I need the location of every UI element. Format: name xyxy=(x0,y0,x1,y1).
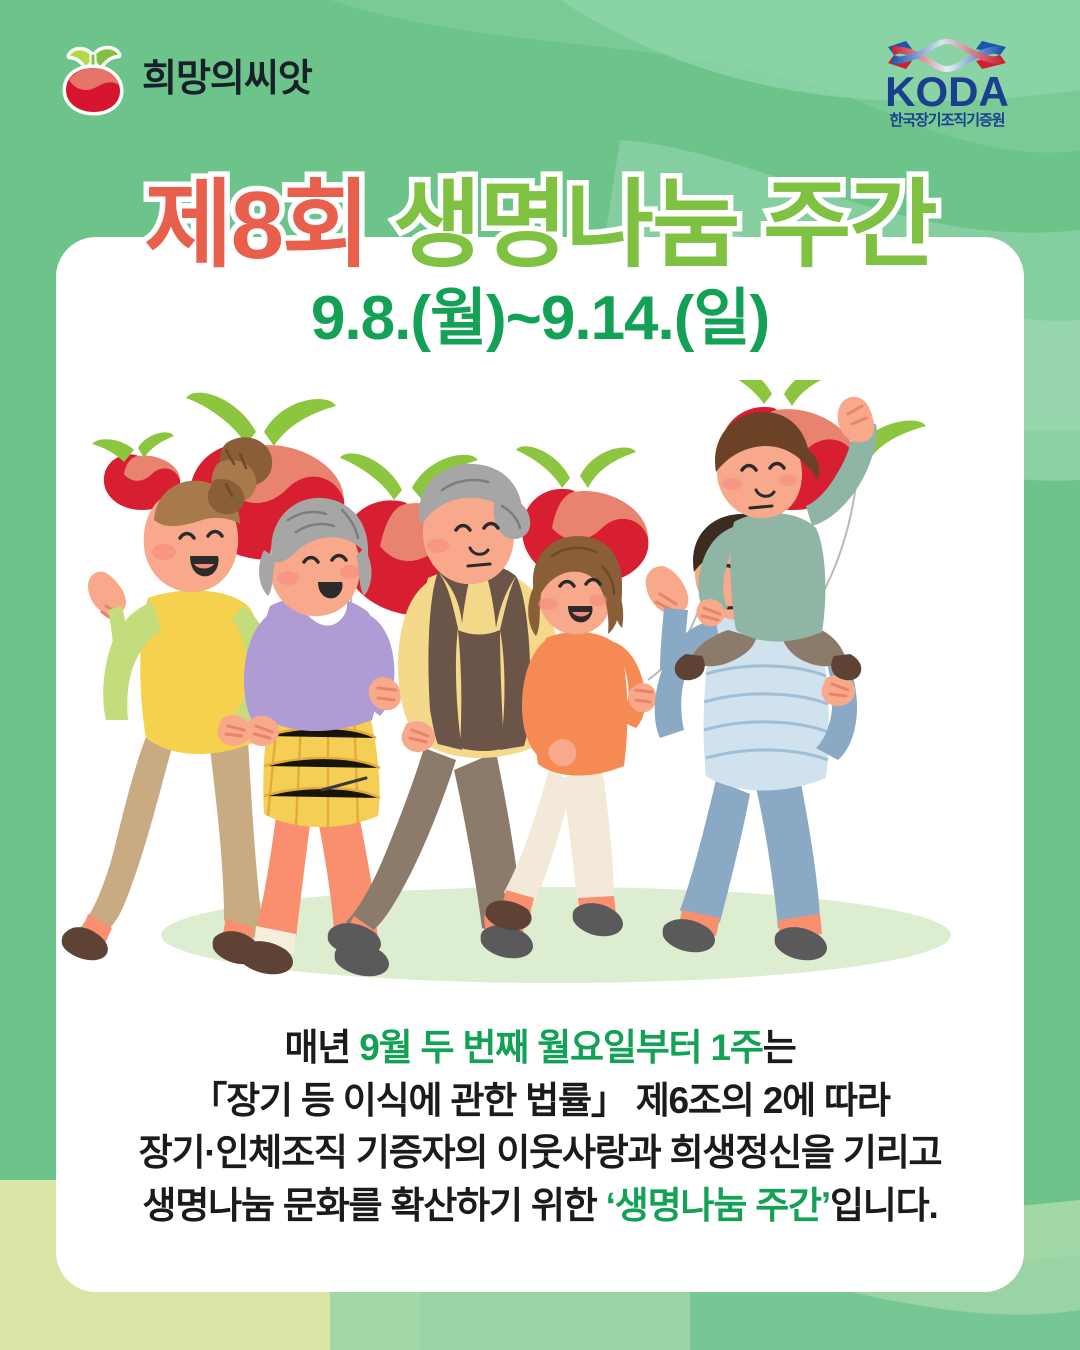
poster-root: 희망의씨앗 xyxy=(0,0,1080,1350)
body-line-1-highlight: 9월 두 번째 월요일부터 1주 xyxy=(359,1027,762,1068)
title-block: 제8회 생명나눔 주간 9.8.(월)~9.14.(일) xyxy=(0,178,1080,350)
body-line-1-post: 는 xyxy=(763,1027,796,1068)
date-range: 9.8.(월)~9.14.(일) xyxy=(0,288,1080,350)
seed-logo: 희망의씨앗 xyxy=(56,42,312,116)
body-text: 매년 9월 두 번째 월요일부터 1주는 「장기 등 이식에 관한 법률」 제6… xyxy=(56,1022,1024,1232)
body-line-1-pre: 매년 xyxy=(284,1027,359,1068)
illustration xyxy=(56,380,1024,1000)
koda-logo-subtitle: 한국장기조직기증원 xyxy=(872,113,1022,130)
body-line-4-post: 입니다. xyxy=(830,1185,938,1226)
body-line-4-pre: 생명나눔 문화를 확산하기 위한 xyxy=(142,1185,605,1226)
koda-logo: KODA 한국장기조직기증원 xyxy=(872,38,1022,129)
title-main: 생명나눔 주간 xyxy=(393,172,936,279)
page-title: 제8회 생명나눔 주간 xyxy=(0,178,1080,274)
body-line-2: 「장기 등 이식에 관한 법률」 제6조의 2에 따라 xyxy=(56,1075,1024,1128)
body-line-4: 생명나눔 문화를 확산하기 위한 ‘생명나눔 주간’입니다. xyxy=(56,1180,1024,1233)
body-line-1: 매년 9월 두 번째 월요일부터 1주는 xyxy=(56,1022,1024,1075)
title-ordinal: 제8회 xyxy=(144,172,368,279)
poster-header: 희망의씨앗 xyxy=(0,0,1080,150)
seed-sprout-icon xyxy=(56,42,130,116)
body-line-4-highlight: ‘생명나눔 주간’ xyxy=(606,1185,830,1226)
koda-logo-name: KODA xyxy=(872,72,1022,112)
seed-logo-wordmark: 희망의씨앗 xyxy=(142,60,312,98)
body-line-3: 장기·인체조직 기증자의 이웃사랑과 희생정신을 기리고 xyxy=(56,1127,1024,1180)
